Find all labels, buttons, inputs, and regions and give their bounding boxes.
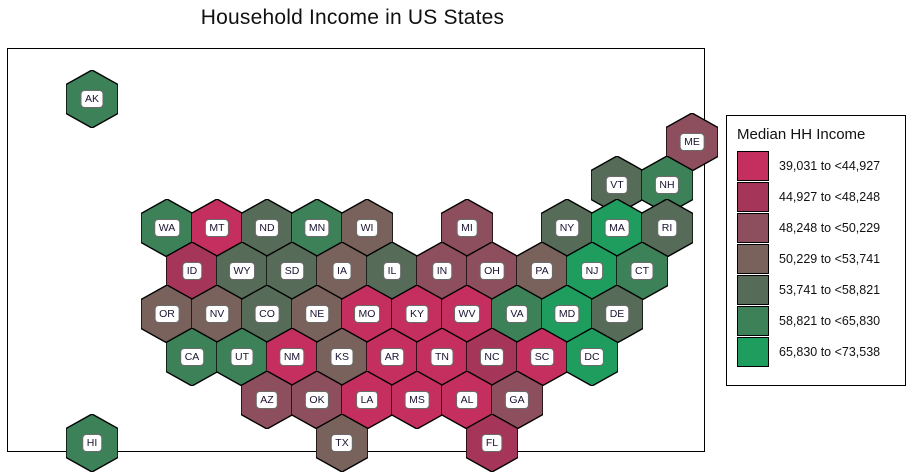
legend-label: 58,821 to <65,830	[779, 314, 880, 328]
hex-map-panel: AKMEVTNHWAMTNDMNWIMINYMARIIDWYSDIAILINOH…	[7, 48, 705, 452]
hex-state-label: NV	[205, 305, 229, 323]
legend-label: 50,229 to <53,741	[779, 252, 880, 266]
hex-state-label: IL	[383, 262, 401, 280]
hex-state-label: OK	[305, 391, 329, 409]
hex-state-label: IA	[333, 262, 352, 280]
hex-state-dc[interactable]: DC	[566, 328, 618, 386]
hex-state-ak[interactable]: AK	[66, 70, 118, 128]
legend-label: 65,830 to <73,538	[779, 345, 880, 359]
hex-state-label: NJ	[581, 262, 603, 280]
hex-state-label: MD	[554, 305, 579, 323]
legend-swatch	[737, 275, 769, 305]
hex-state-label: UT	[231, 348, 254, 366]
hex-state-label: VT	[606, 176, 628, 194]
hex-state-label: ID	[182, 262, 202, 280]
hex-state-label: DE	[605, 305, 629, 323]
legend-label: 39,031 to <44,927	[779, 159, 880, 173]
hex-state-label: DC	[580, 348, 604, 366]
legend-swatch	[737, 306, 769, 336]
hex-state-label: WV	[454, 305, 480, 323]
hex-state-label: LA	[356, 391, 378, 409]
legend-row-4: 53,741 to <58,821	[727, 274, 905, 305]
hex-state-label: KY	[405, 305, 428, 323]
legend-swatch	[737, 213, 769, 243]
hex-state-tx[interactable]: TX	[316, 414, 368, 472]
legend-swatch	[737, 182, 769, 212]
legend-swatch	[737, 151, 769, 181]
hex-state-label: MI	[457, 219, 478, 237]
hex-state-label: ND	[255, 219, 279, 237]
hex-state-label: KS	[330, 348, 353, 366]
hex-state-label: HI	[82, 434, 102, 452]
hex-state-label: WA	[154, 219, 180, 237]
hex-grid: AKMEVTNHWAMTNDMNWIMINYMARIIDWYSDIAILINOH…	[8, 49, 704, 451]
hex-state-label: AZ	[256, 391, 278, 409]
hex-state-label: MO	[354, 305, 380, 323]
legend-row-2: 48,248 to <50,229	[727, 212, 905, 243]
hex-state-label: SC	[530, 348, 554, 366]
hex-state-label: NY	[555, 219, 579, 237]
legend-rows: 39,031 to <44,92744,927 to <48,24848,248…	[727, 150, 905, 367]
hex-state-label: CT	[631, 262, 654, 280]
hex-state-label: PA	[531, 262, 553, 280]
hex-state-label: WI	[356, 219, 378, 237]
hex-state-hi[interactable]: HI	[66, 414, 118, 472]
legend-label: 44,927 to <48,248	[779, 190, 880, 204]
hex-state-label: GA	[505, 391, 529, 409]
hex-state-label: FL	[481, 434, 502, 452]
hex-state-label: NE	[305, 305, 329, 323]
hex-state-az[interactable]: AZ	[241, 371, 293, 429]
legend-swatch	[737, 244, 769, 274]
legend-row-1: 44,927 to <48,248	[727, 181, 905, 212]
page-title: Household Income in US States	[0, 6, 705, 30]
hex-state-label: WY	[229, 262, 255, 280]
hex-state-label: MN	[304, 219, 329, 237]
legend-row-0: 39,031 to <44,927	[727, 150, 905, 181]
hex-state-ca[interactable]: CA	[166, 328, 218, 386]
hex-state-label: NM	[279, 348, 304, 366]
hex-state-label: AL	[456, 391, 478, 409]
hex-state-label: VA	[506, 305, 528, 323]
hex-state-label: CO	[255, 305, 280, 323]
legend-panel: Median HH Income 39,031 to <44,92744,927…	[726, 115, 906, 386]
legend-swatch	[737, 337, 769, 367]
hex-state-label: AR	[380, 348, 404, 366]
hex-state-label: MT	[205, 219, 229, 237]
hex-state-label: SD	[280, 262, 304, 280]
hex-state-label: ME	[680, 133, 705, 151]
legend-title: Median HH Income	[727, 124, 905, 150]
legend-label: 48,248 to <50,229	[779, 221, 880, 235]
hex-state-label: RI	[657, 219, 677, 237]
hex-state-label: NH	[655, 176, 679, 194]
legend-label: 53,741 to <58,821	[779, 283, 880, 297]
hex-state-label: CA	[180, 348, 204, 366]
hex-state-label: TX	[331, 434, 353, 452]
hex-state-fl[interactable]: FL	[466, 414, 518, 472]
hex-state-label: MS	[405, 391, 430, 409]
hex-state-label: MA	[605, 219, 630, 237]
legend-row-5: 58,821 to <65,830	[727, 305, 905, 336]
hex-state-label: AK	[80, 90, 103, 108]
hex-state-label: OR	[155, 305, 180, 323]
hex-state-label: NC	[480, 348, 504, 366]
hex-state-label: OH	[480, 262, 505, 280]
hex-state-label: IN	[432, 262, 452, 280]
hex-state-label: TN	[431, 348, 454, 366]
legend-row-3: 50,229 to <53,741	[727, 243, 905, 274]
hex-state-ms[interactable]: MS	[391, 371, 443, 429]
legend-row-6: 65,830 to <73,538	[727, 336, 905, 367]
